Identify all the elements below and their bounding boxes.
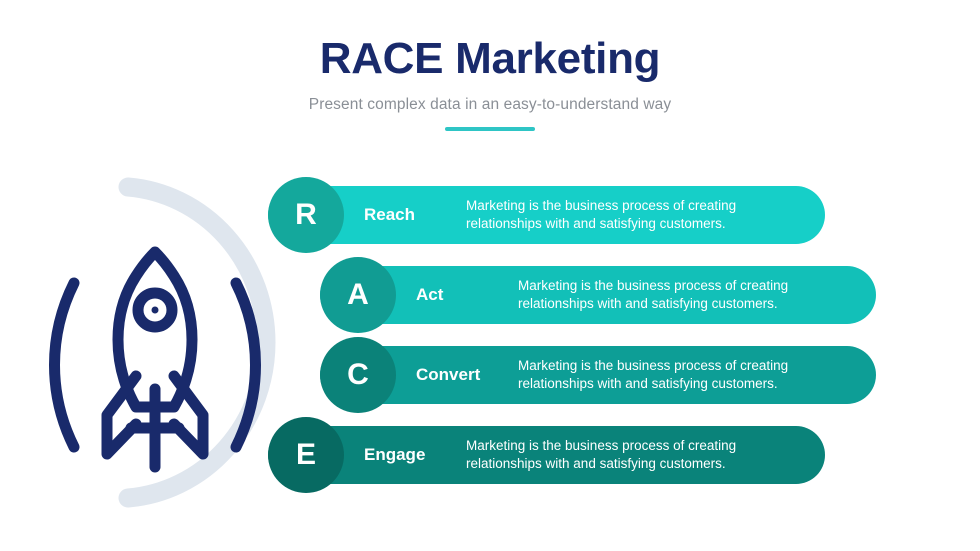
row-letter-badge: C [320, 337, 396, 413]
race-row-convert[interactable]: C Convert Marketing is the business proc… [320, 346, 876, 404]
row-letter: E [296, 440, 316, 470]
slide-header: RACE Marketing Present complex data in a… [0, 36, 980, 131]
slide-canvas: RACE Marketing Present complex data in a… [0, 0, 980, 551]
row-letter-badge: A [320, 257, 396, 333]
row-letter: A [347, 280, 369, 310]
row-letter: R [295, 200, 317, 230]
row-description: Marketing is the business process of cre… [466, 426, 796, 484]
row-label: Engage [364, 426, 425, 484]
page-title: RACE Marketing [0, 36, 980, 82]
row-label: Convert [416, 346, 480, 404]
row-letter-badge: E [268, 417, 344, 493]
row-label: Act [416, 266, 443, 324]
page-subtitle: Present complex data in an easy-to-under… [0, 96, 980, 114]
row-letter-badge: R [268, 177, 344, 253]
accent-divider [445, 127, 535, 131]
race-row-reach[interactable]: R Reach Marketing is the business proces… [268, 186, 825, 244]
row-description: Marketing is the business process of cre… [518, 346, 848, 404]
race-rows: R Reach Marketing is the business proces… [0, 186, 980, 506]
row-description: Marketing is the business process of cre… [466, 186, 796, 244]
row-description: Marketing is the business process of cre… [518, 266, 848, 324]
race-row-engage[interactable]: E Engage Marketing is the business proce… [268, 426, 825, 484]
row-letter: C [347, 360, 369, 390]
race-row-act[interactable]: A Act Marketing is the business process … [320, 266, 876, 324]
row-label: Reach [364, 186, 415, 244]
